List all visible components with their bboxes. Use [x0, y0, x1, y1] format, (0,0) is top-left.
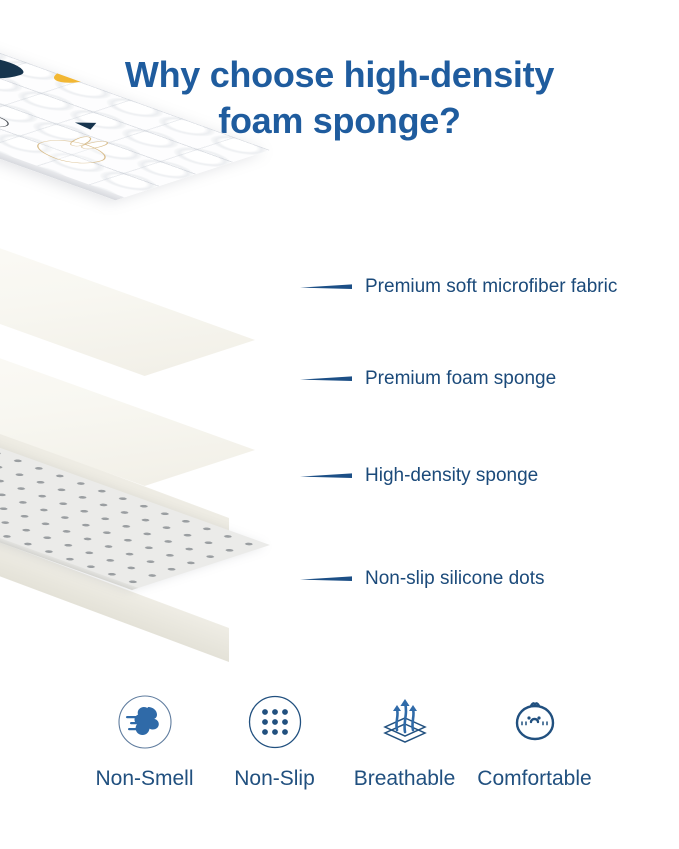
feature-non-slip: Non-Slip	[210, 694, 340, 792]
feature-label-non-slip: Non-Slip	[234, 766, 315, 792]
callout-label-microfiber: Premium soft microfiber fabric	[365, 275, 617, 299]
leader-line-icon	[300, 472, 352, 480]
feature-label-non-smell: Non-Smell	[95, 766, 193, 792]
exploded-mattress-illustration	[0, 150, 370, 690]
feature-breathable: Breathable	[340, 694, 470, 792]
comfortable-baby-face-icon	[507, 694, 563, 750]
callout-microfiber: Premium soft microfiber fabric	[300, 275, 617, 299]
feature-label-breathable: Breathable	[354, 766, 456, 792]
leader-line-icon	[300, 575, 352, 583]
callout-label-high-density-sponge: High-density sponge	[365, 464, 538, 488]
callout-silicone-dots: Non-slip silicone dots	[300, 567, 545, 591]
feature-comfortable: Comfortable	[470, 694, 600, 792]
callout-high-density-sponge: High-density sponge	[300, 464, 538, 488]
leader-line-icon	[300, 375, 352, 383]
non-slip-dots-icon	[247, 694, 303, 750]
breathable-airflow-icon	[377, 694, 433, 750]
callout-foam-sponge: Premium foam sponge	[300, 367, 556, 391]
feature-non-smell: Non-Smell	[80, 694, 210, 792]
callout-label-silicone-dots: Non-slip silicone dots	[365, 567, 545, 591]
feature-label-comfortable: Comfortable	[477, 766, 591, 792]
feature-row: Non-Smell Non-Slip	[0, 694, 679, 792]
callout-label-foam-sponge: Premium foam sponge	[365, 367, 556, 391]
non-smell-icon	[117, 694, 173, 750]
leader-line-icon	[300, 283, 352, 291]
